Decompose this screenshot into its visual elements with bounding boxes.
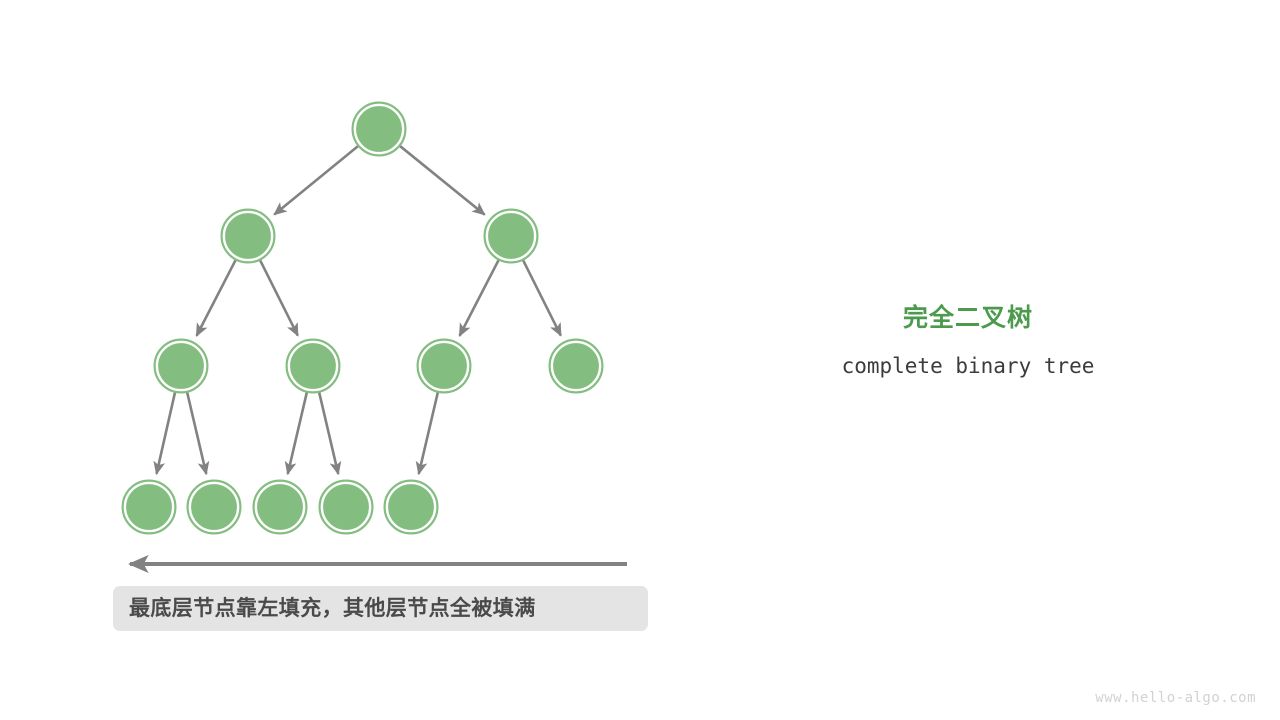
node-fill-circle	[487, 212, 535, 260]
node-fill-circle	[157, 342, 205, 390]
tree-node	[287, 340, 340, 393]
node-fill-circle	[125, 483, 173, 531]
node-fill-circle	[224, 212, 272, 260]
node-fill-circle	[190, 483, 238, 531]
tree-nodes-group	[123, 103, 603, 534]
tree-node	[485, 210, 538, 263]
watermark: www.hello-algo.com	[1095, 690, 1256, 706]
tree-edge	[460, 260, 499, 336]
tree-edge	[400, 146, 485, 215]
tree-edge	[187, 392, 206, 474]
legend-block: 完全二叉树 complete binary tree	[790, 298, 1146, 378]
caption-box: 最底层节点靠左填充，其他层节点全被填满	[113, 586, 648, 631]
node-fill-circle	[289, 342, 337, 390]
tree-edge	[419, 392, 438, 474]
caption-text: 最底层节点靠左填充，其他层节点全被填满	[129, 596, 632, 622]
tree-edge	[197, 260, 236, 336]
tree-node	[385, 481, 438, 534]
tree-node	[222, 210, 275, 263]
node-fill-circle	[256, 483, 304, 531]
tree-edge	[274, 146, 358, 215]
tree-edge	[288, 392, 307, 474]
tree-edge	[157, 392, 176, 474]
legend-subtitle: complete binary tree	[790, 354, 1146, 378]
node-fill-circle	[552, 342, 600, 390]
tree-edge	[260, 260, 298, 336]
tree-node	[418, 340, 471, 393]
node-fill-circle	[322, 483, 370, 531]
tree-node	[550, 340, 603, 393]
node-fill-circle	[355, 105, 403, 153]
tree-edges-group	[157, 146, 561, 474]
tree-node	[320, 481, 373, 534]
node-fill-circle	[420, 342, 468, 390]
tree-edge	[523, 260, 561, 336]
tree-node	[188, 481, 241, 534]
tree-node	[353, 103, 406, 156]
tree-edge	[319, 392, 338, 474]
node-fill-circle	[387, 483, 435, 531]
tree-node	[123, 481, 176, 534]
tree-node	[155, 340, 208, 393]
tree-node	[254, 481, 307, 534]
legend-title: 完全二叉树	[790, 298, 1146, 334]
